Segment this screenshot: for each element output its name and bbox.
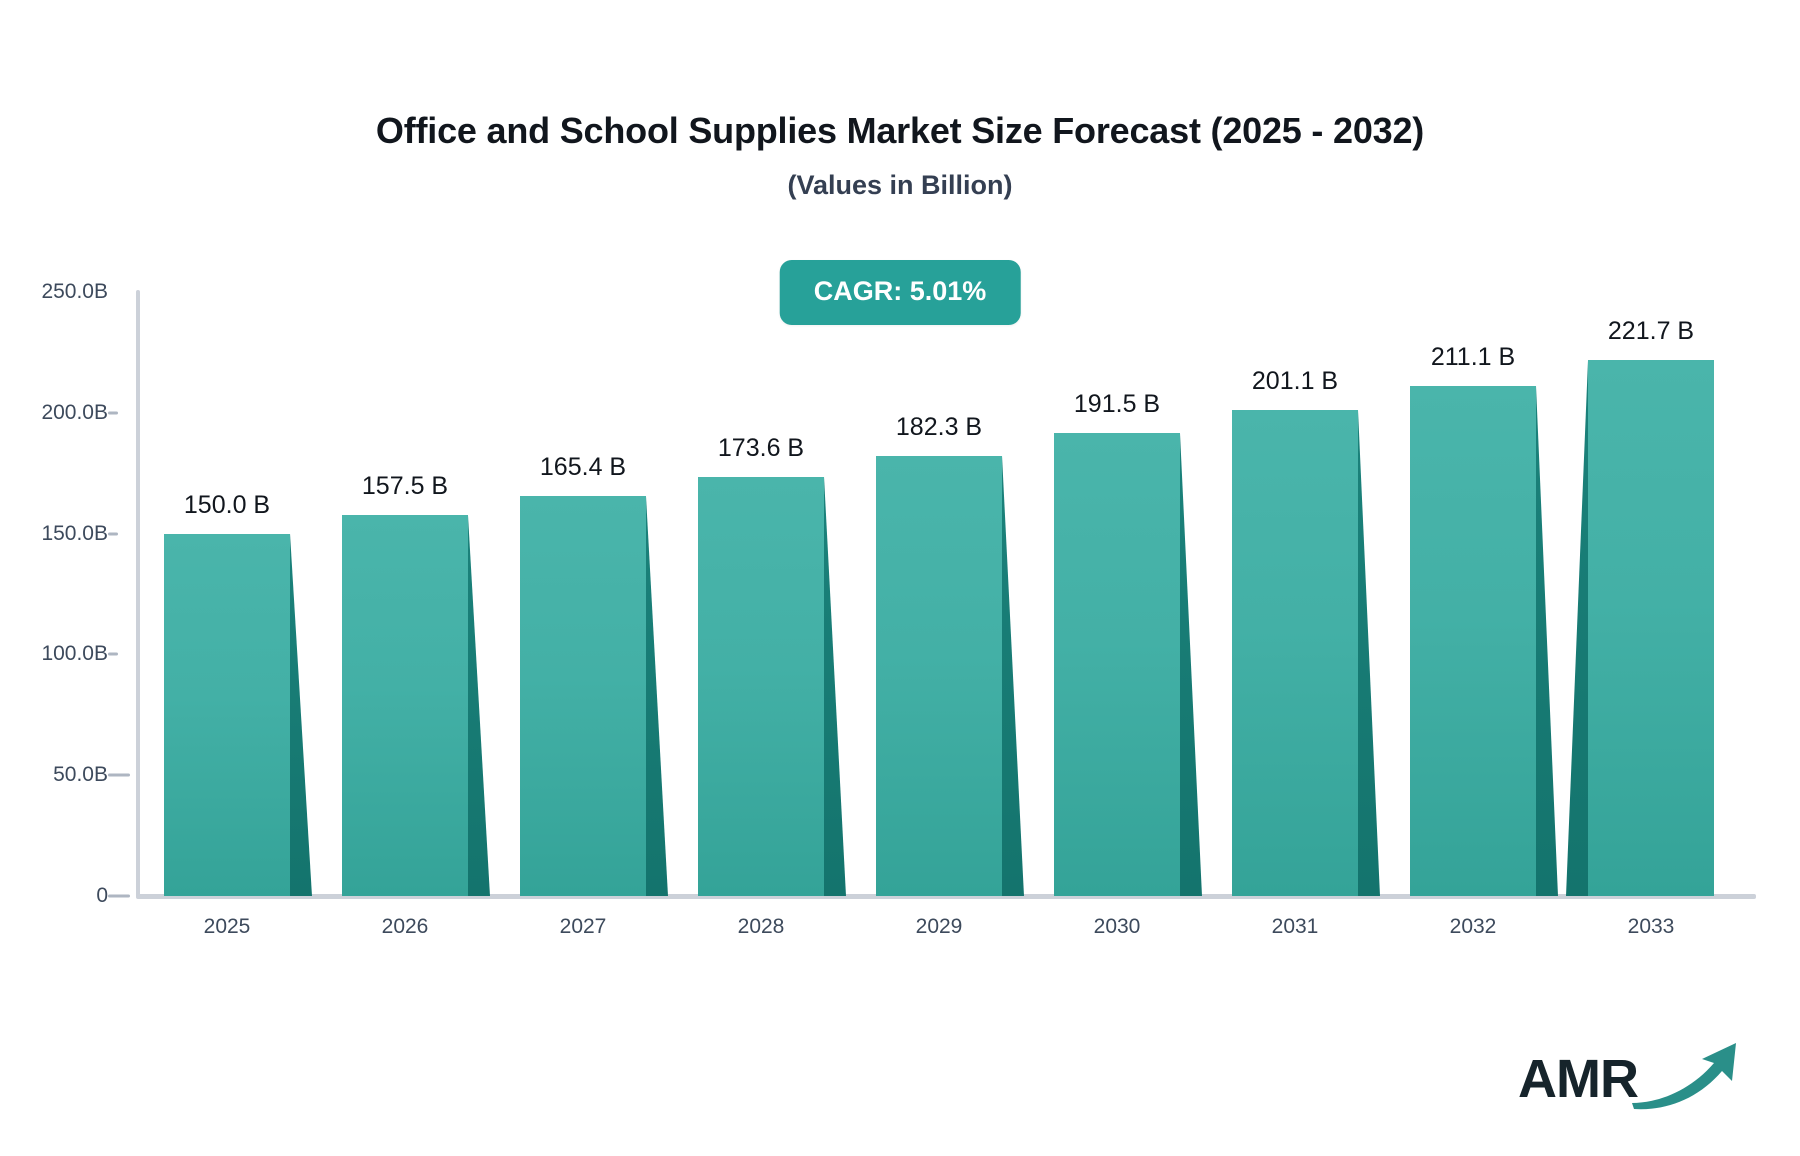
bar-side-face: [1002, 456, 1024, 896]
logo-text: AMR: [1518, 1052, 1638, 1106]
bar-2025[interactable]: 150.0 B: [164, 534, 290, 896]
bar-2027[interactable]: 165.4 B: [520, 496, 646, 896]
bar-2028[interactable]: 173.6 B: [698, 477, 824, 896]
y-axis-tick-label: 150.0B: [0, 522, 108, 546]
y-axis-tick-label: 200.0B: [0, 401, 108, 425]
bar-side-face: [646, 496, 668, 896]
y-axis-tick-label: 250.0B: [0, 280, 108, 304]
x-axis-label-2031: 2031: [1272, 915, 1319, 939]
y-axis-tick-mark: [108, 532, 118, 535]
bar-2032[interactable]: 211.1 B: [1410, 386, 1536, 896]
bar-side-face: [1566, 360, 1588, 896]
bar-value-label: 173.6 B: [718, 434, 804, 463]
bar-value-label: 201.1 B: [1252, 367, 1338, 396]
y-axis-tick-mark: [108, 653, 118, 656]
bar-side-face: [1358, 410, 1380, 896]
bar-value-label: 150.0 B: [184, 491, 270, 520]
bar-front-face: [520, 496, 646, 896]
bar-2031[interactable]: 201.1 B: [1232, 410, 1358, 896]
bar-front-face: [342, 515, 468, 896]
amr-logo: AMR: [1518, 1037, 1744, 1120]
x-axis-label-2029: 2029: [916, 915, 963, 939]
bar-value-label: 191.5 B: [1074, 390, 1160, 419]
x-axis-label-2027: 2027: [560, 915, 607, 939]
bar-2026[interactable]: 157.5 B: [342, 515, 468, 896]
bar-side-face: [468, 515, 490, 896]
x-axis-label-2028: 2028: [738, 915, 785, 939]
y-axis-tick-mark: [108, 895, 130, 898]
bar-front-face: [164, 534, 290, 896]
plot-area: 150.0 B157.5 B165.4 B173.6 B182.3 B191.5…: [138, 292, 1740, 896]
bar-front-face: [876, 456, 1002, 896]
x-axis-label-2025: 2025: [204, 915, 251, 939]
y-axis-tick-mark: [108, 774, 130, 777]
bar-value-label: 221.7 B: [1608, 317, 1694, 346]
y-axis-tick-label: 100.0B: [0, 642, 108, 666]
bar-2030[interactable]: 191.5 B: [1054, 433, 1180, 896]
chart-title: Office and School Supplies Market Size F…: [0, 110, 1800, 152]
bar-side-face: [1180, 433, 1202, 896]
bar-2033[interactable]: 221.7 B: [1588, 360, 1714, 896]
bar-2029[interactable]: 182.3 B: [876, 456, 1002, 896]
bar-value-label: 182.3 B: [896, 413, 982, 442]
x-axis-label-2030: 2030: [1094, 915, 1141, 939]
y-axis-tick-label: 50.0B: [0, 763, 108, 787]
bar-front-face: [1054, 433, 1180, 896]
bar-front-face: [698, 477, 824, 896]
bar-side-face: [824, 477, 846, 896]
growth-arrow-icon: [1628, 1037, 1744, 1116]
bar-value-label: 157.5 B: [362, 472, 448, 501]
bar-front-face: [1232, 410, 1358, 896]
bar-value-label: 165.4 B: [540, 453, 626, 482]
x-axis-label-2026: 2026: [382, 915, 429, 939]
y-axis-tick-mark: [108, 411, 118, 414]
chart-canvas: Office and School Supplies Market Size F…: [0, 0, 1800, 1156]
bar-side-face: [1536, 386, 1558, 896]
x-axis-label-2033: 2033: [1628, 915, 1675, 939]
bar-front-face: [1410, 386, 1536, 896]
x-axis-label-2032: 2032: [1450, 915, 1497, 939]
bar-side-face: [290, 534, 312, 896]
bar-value-label: 211.1 B: [1431, 343, 1515, 372]
chart-subtitle: (Values in Billion): [0, 170, 1800, 201]
y-axis-tick-label: 0: [0, 884, 108, 908]
bar-front-face: [1588, 360, 1714, 896]
